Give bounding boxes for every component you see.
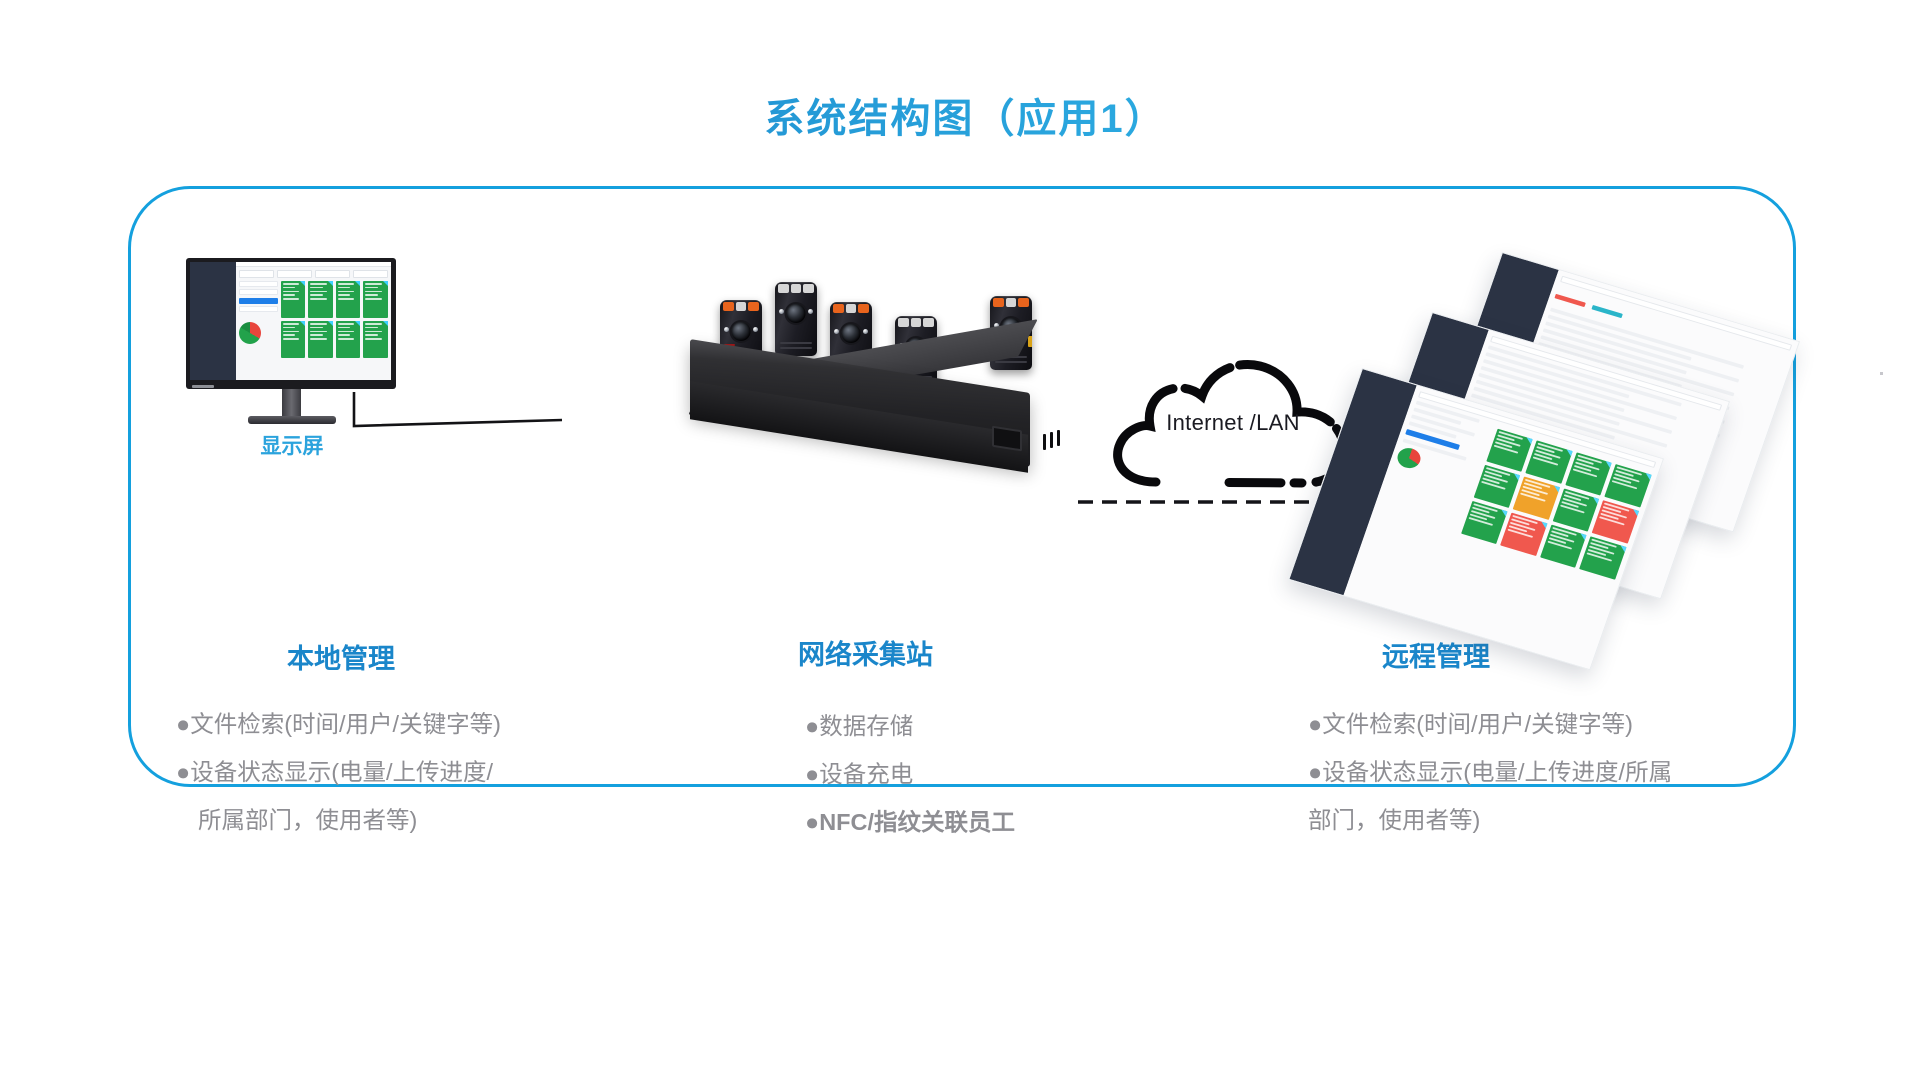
device-card [363,281,388,318]
bullet-item: ●NFC/指纹关联员工 [805,798,1015,846]
device-card [1486,429,1533,472]
device-card [281,321,306,358]
tree-row-selected [239,298,278,304]
device-card [1605,464,1652,507]
bullet-item: 部门，使用者等) [1308,796,1672,844]
local-bullets: ●文件检索(时间/用户/关键字等) ●设备状态显示(电量/上传进度/ 所属部门，… [176,700,501,844]
monitor-stand-base [248,416,336,424]
device-card [363,321,388,358]
bullet-item: ●数据存储 [805,702,1015,750]
bullet-item: ●设备状态显示(电量/上传进度/ [176,748,501,796]
docking-station-icon [690,280,1070,500]
station-heading: 网络采集站 [798,633,933,672]
network-dashed-link [1078,500,1348,504]
dock-vent [1043,434,1046,450]
dashboard-topbar [236,262,391,267]
filter-field [239,270,274,278]
remote-heading: 远程管理 [1382,635,1490,674]
device-card-grid [281,281,388,358]
dashboard-body [239,281,388,358]
body-camera-icon [775,282,817,356]
device-tree [239,281,278,358]
device-card [336,281,361,318]
filter-bar [239,270,388,278]
connection-cable [348,392,563,434]
device-card [336,321,361,358]
cloud-label: Internet /LAN [1098,410,1368,436]
device-card [1525,440,1572,483]
filter-field [277,270,312,278]
device-card [308,281,333,318]
device-card [1565,452,1612,495]
bullet-item: ●设备状态显示(电量/上传进度/所属 [1308,748,1672,796]
device-card [308,321,333,358]
local-heading: 本地管理 [287,637,395,676]
dashboard-main [236,262,391,380]
tree-row [239,281,278,287]
device-card [1592,500,1639,543]
remote-bullets: ●文件检索(时间/用户/关键字等) ●设备状态显示(电量/上传进度/所属 部门，… [1308,700,1672,844]
device-card [1540,525,1587,568]
monitor-bezel [186,258,396,389]
device-card [1552,488,1599,531]
station-bullets: ●数据存储 ●设备充电 ●NFC/指纹关联员工 [805,702,1015,846]
monitor-caption: 显示屏 [222,430,362,460]
device-card [1579,536,1626,579]
remote-dashboard-stack [1360,252,1760,622]
device-card [281,281,306,318]
bullet-item: ●文件检索(时间/用户/关键字等) [176,700,501,748]
dock-vent [1057,430,1060,446]
filter-field [315,270,350,278]
filter-field [353,270,388,278]
status-pie-chart [1395,445,1424,471]
bullet-item: ●文件检索(时间/用户/关键字等) [1308,700,1672,748]
status-pie-chart [239,322,261,344]
dashboard-sidebar [190,262,236,380]
device-card [1461,501,1508,544]
device-card [1513,477,1560,520]
device-card [1500,513,1547,556]
monitor-brand-mark [192,385,214,388]
monitor-stand-neck [282,389,301,418]
bullet-item: ●设备充电 [805,750,1015,798]
device-card [1473,465,1520,508]
image-speck [1880,372,1883,375]
dock-vent [1050,432,1053,448]
tree-row [239,289,278,295]
tree-row [239,306,278,312]
monitor-screen [190,262,391,380]
page-title: 系统结构图（应用1） [0,86,1931,144]
bullet-item: 所属部门，使用者等) [176,796,501,844]
